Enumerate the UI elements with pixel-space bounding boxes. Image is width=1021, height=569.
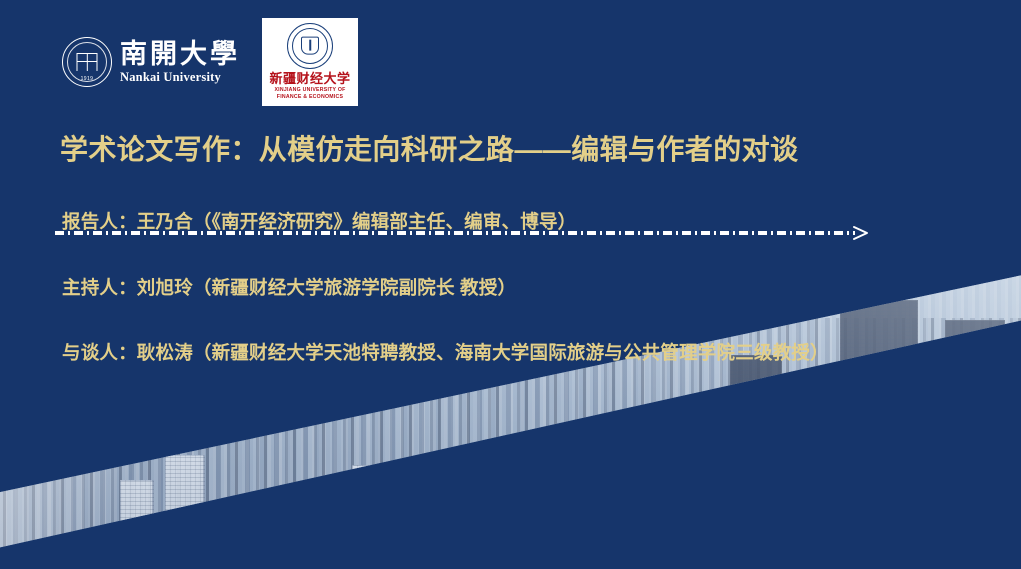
window-texture bbox=[165, 455, 205, 569]
host-line: 主持人：刘旭玲（新疆财经大学旅游学院副院长 教授） bbox=[62, 274, 516, 300]
logo-row: 1919 南開大學 Nankai University 新疆财经大学 XINJI… bbox=[62, 18, 358, 106]
nankai-name-cn: 南開大學 bbox=[120, 41, 240, 68]
building-light-6 bbox=[520, 475, 554, 569]
window-texture bbox=[430, 500, 458, 569]
arrow-right-icon bbox=[852, 224, 870, 242]
nankai-university-seal-icon: 1919 bbox=[62, 37, 112, 87]
building-light-2 bbox=[165, 455, 205, 569]
window-texture bbox=[260, 490, 290, 569]
building-light-1 bbox=[120, 480, 154, 569]
window-texture bbox=[520, 475, 554, 569]
xinjiang-university-seal-icon bbox=[287, 23, 333, 69]
building-light-7 bbox=[608, 495, 638, 569]
building-dark-2 bbox=[945, 320, 1005, 569]
window-texture bbox=[352, 465, 388, 569]
xinjiang-name-en: XINJIANG UNIVERSITY OF FINANCE & ECONOMI… bbox=[274, 87, 345, 101]
building-dark-3 bbox=[730, 355, 782, 569]
nankai-wordmark: 南開大學 Nankai University bbox=[120, 41, 240, 84]
nankai-name-en: Nankai University bbox=[120, 71, 240, 84]
building-dark-1 bbox=[840, 300, 918, 569]
xinjiang-seal-shield-icon bbox=[301, 37, 319, 55]
building-light-5 bbox=[430, 500, 458, 569]
xinjiang-university-logo: 新疆财经大学 XINJIANG UNIVERSITY OF FINANCE & … bbox=[262, 18, 358, 106]
nankai-seal-glyph-icon bbox=[77, 53, 98, 71]
xinjiang-name-en-line2: FINANCE & ECONOMICS bbox=[274, 94, 345, 101]
dash-dot-divider bbox=[55, 231, 855, 235]
window-texture bbox=[608, 495, 638, 569]
building-light-3 bbox=[260, 490, 290, 569]
window-texture bbox=[945, 320, 1005, 569]
nankai-university-logo: 1919 南開大學 Nankai University bbox=[62, 37, 240, 87]
xinjiang-name-en-line1: XINJIANG UNIVERSITY OF bbox=[274, 87, 345, 94]
slide-title: 学术论文写作：从模仿走向科研之路——编辑与作者的对谈 bbox=[60, 128, 798, 168]
xinjiang-name-cn: 新疆财经大学 bbox=[269, 72, 350, 86]
nankai-seal-year: 1919 bbox=[63, 76, 111, 82]
presentation-slide: 1919 南開大學 Nankai University 新疆财经大学 XINJI… bbox=[0, 0, 1021, 569]
building-light-4 bbox=[352, 465, 388, 569]
window-texture bbox=[840, 300, 918, 569]
discussant-line: 与谈人：耿松涛（新疆财经大学天池特聘教授、海南大学国际旅游与公共管理学院三级教授… bbox=[62, 339, 829, 365]
window-texture bbox=[730, 355, 782, 569]
window-texture bbox=[120, 480, 154, 569]
